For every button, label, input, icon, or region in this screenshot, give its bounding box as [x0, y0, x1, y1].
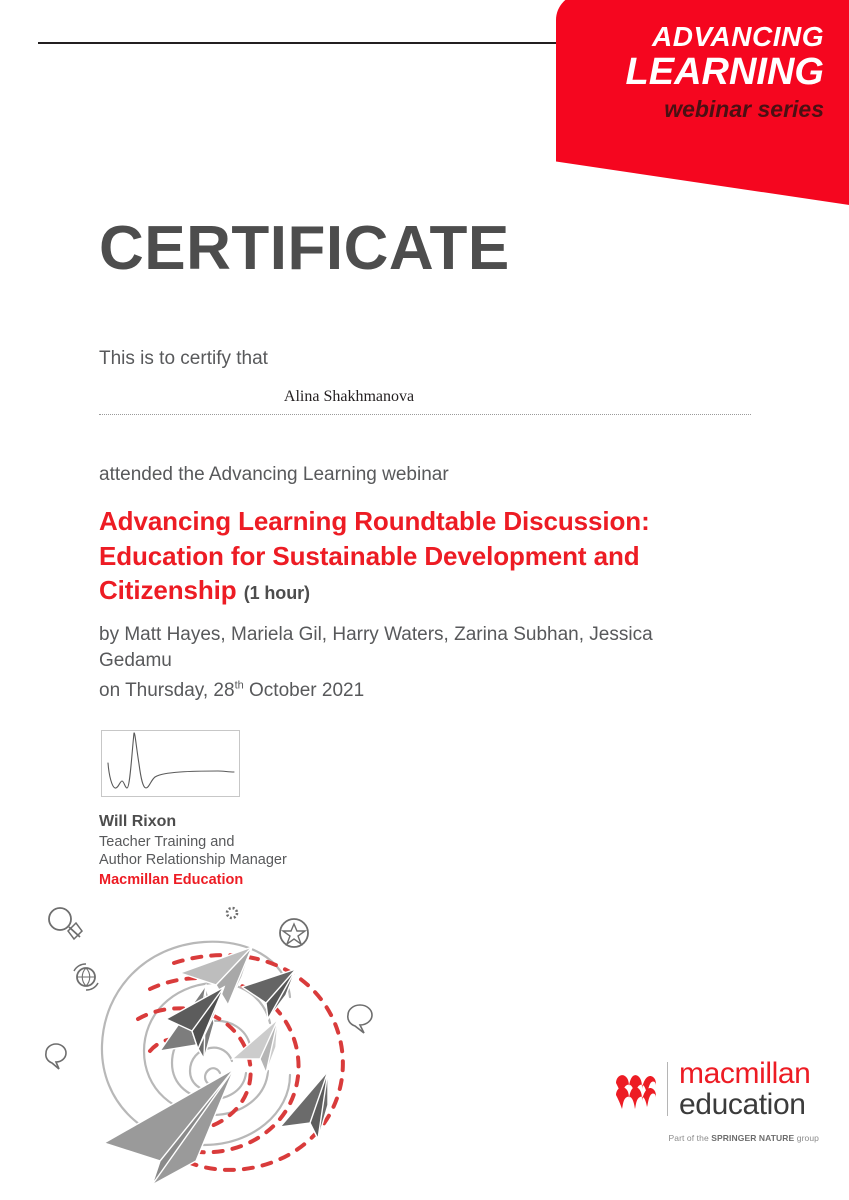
tagline-suffix: group	[794, 1133, 819, 1143]
signer-details: Will Rixon Teacher Training and Author R…	[99, 812, 399, 890]
date-suffix: October 2021	[244, 680, 364, 701]
springer-nature-tagline: Part of the SPRINGER NATURE group	[614, 1133, 819, 1143]
macmillan-m-mark-icon	[614, 1067, 658, 1111]
signer-role-line-1: Teacher Training and	[99, 833, 399, 852]
paper-planes-spiral-illustration	[28, 893, 400, 1188]
signer-role-line-2: Author Relationship Manager	[99, 851, 399, 870]
date-prefix: on Thursday, 28	[99, 680, 235, 701]
logo-divider	[667, 1062, 668, 1116]
presenters-list: by Matt Hayes, Mariela Gil, Harry Waters…	[99, 622, 679, 673]
handwritten-signature-icon	[102, 731, 239, 796]
banner-line-learning: Learning	[566, 53, 824, 93]
magnifier-icon	[49, 908, 71, 930]
webinar-date: on Thursday, 28th October 2021	[99, 680, 364, 702]
signature-image-box	[101, 730, 240, 797]
page-title: CERTIFICATE	[99, 213, 510, 284]
tagline-prefix: Part of the	[668, 1133, 711, 1143]
certify-intro-label: This is to certify that	[99, 348, 268, 370]
advancing-learning-banner-text: Advancing Learning webinar series	[566, 22, 846, 123]
logo-word-macmillan: macmillan	[679, 1059, 810, 1089]
webinar-title-text: Advancing Learning Roundtable Discussion…	[99, 506, 650, 605]
logo-word-education: education	[679, 1090, 810, 1120]
recipient-name: Alina Shakhmanova	[99, 388, 599, 406]
logo-wordmark: macmillan education	[679, 1059, 810, 1120]
gear-icon	[227, 908, 237, 918]
recipient-name-dotted-rule	[99, 414, 751, 415]
banner-line-webinar-series: webinar series	[566, 97, 824, 122]
webinar-duration: (1 hour)	[244, 583, 310, 603]
tagline-brand: SPRINGER NATURE	[711, 1133, 794, 1143]
banner-line-advancing: Advancing	[566, 22, 824, 51]
webinar-title: Advancing Learning Roundtable Discussion…	[99, 504, 749, 608]
speech-bubble-icon-right	[348, 1005, 372, 1033]
speech-bubble-icon-left	[46, 1044, 66, 1069]
signer-name: Will Rixon	[99, 812, 399, 833]
header-divider-rule	[38, 42, 576, 44]
macmillan-education-logo: macmillan education Part of the SPRINGER…	[614, 1058, 819, 1150]
attended-webinar-label: attended the Advancing Learning webinar	[99, 464, 449, 486]
date-ordinal-suffix: th	[235, 680, 244, 692]
signer-organisation: Macmillan Education	[99, 871, 399, 890]
